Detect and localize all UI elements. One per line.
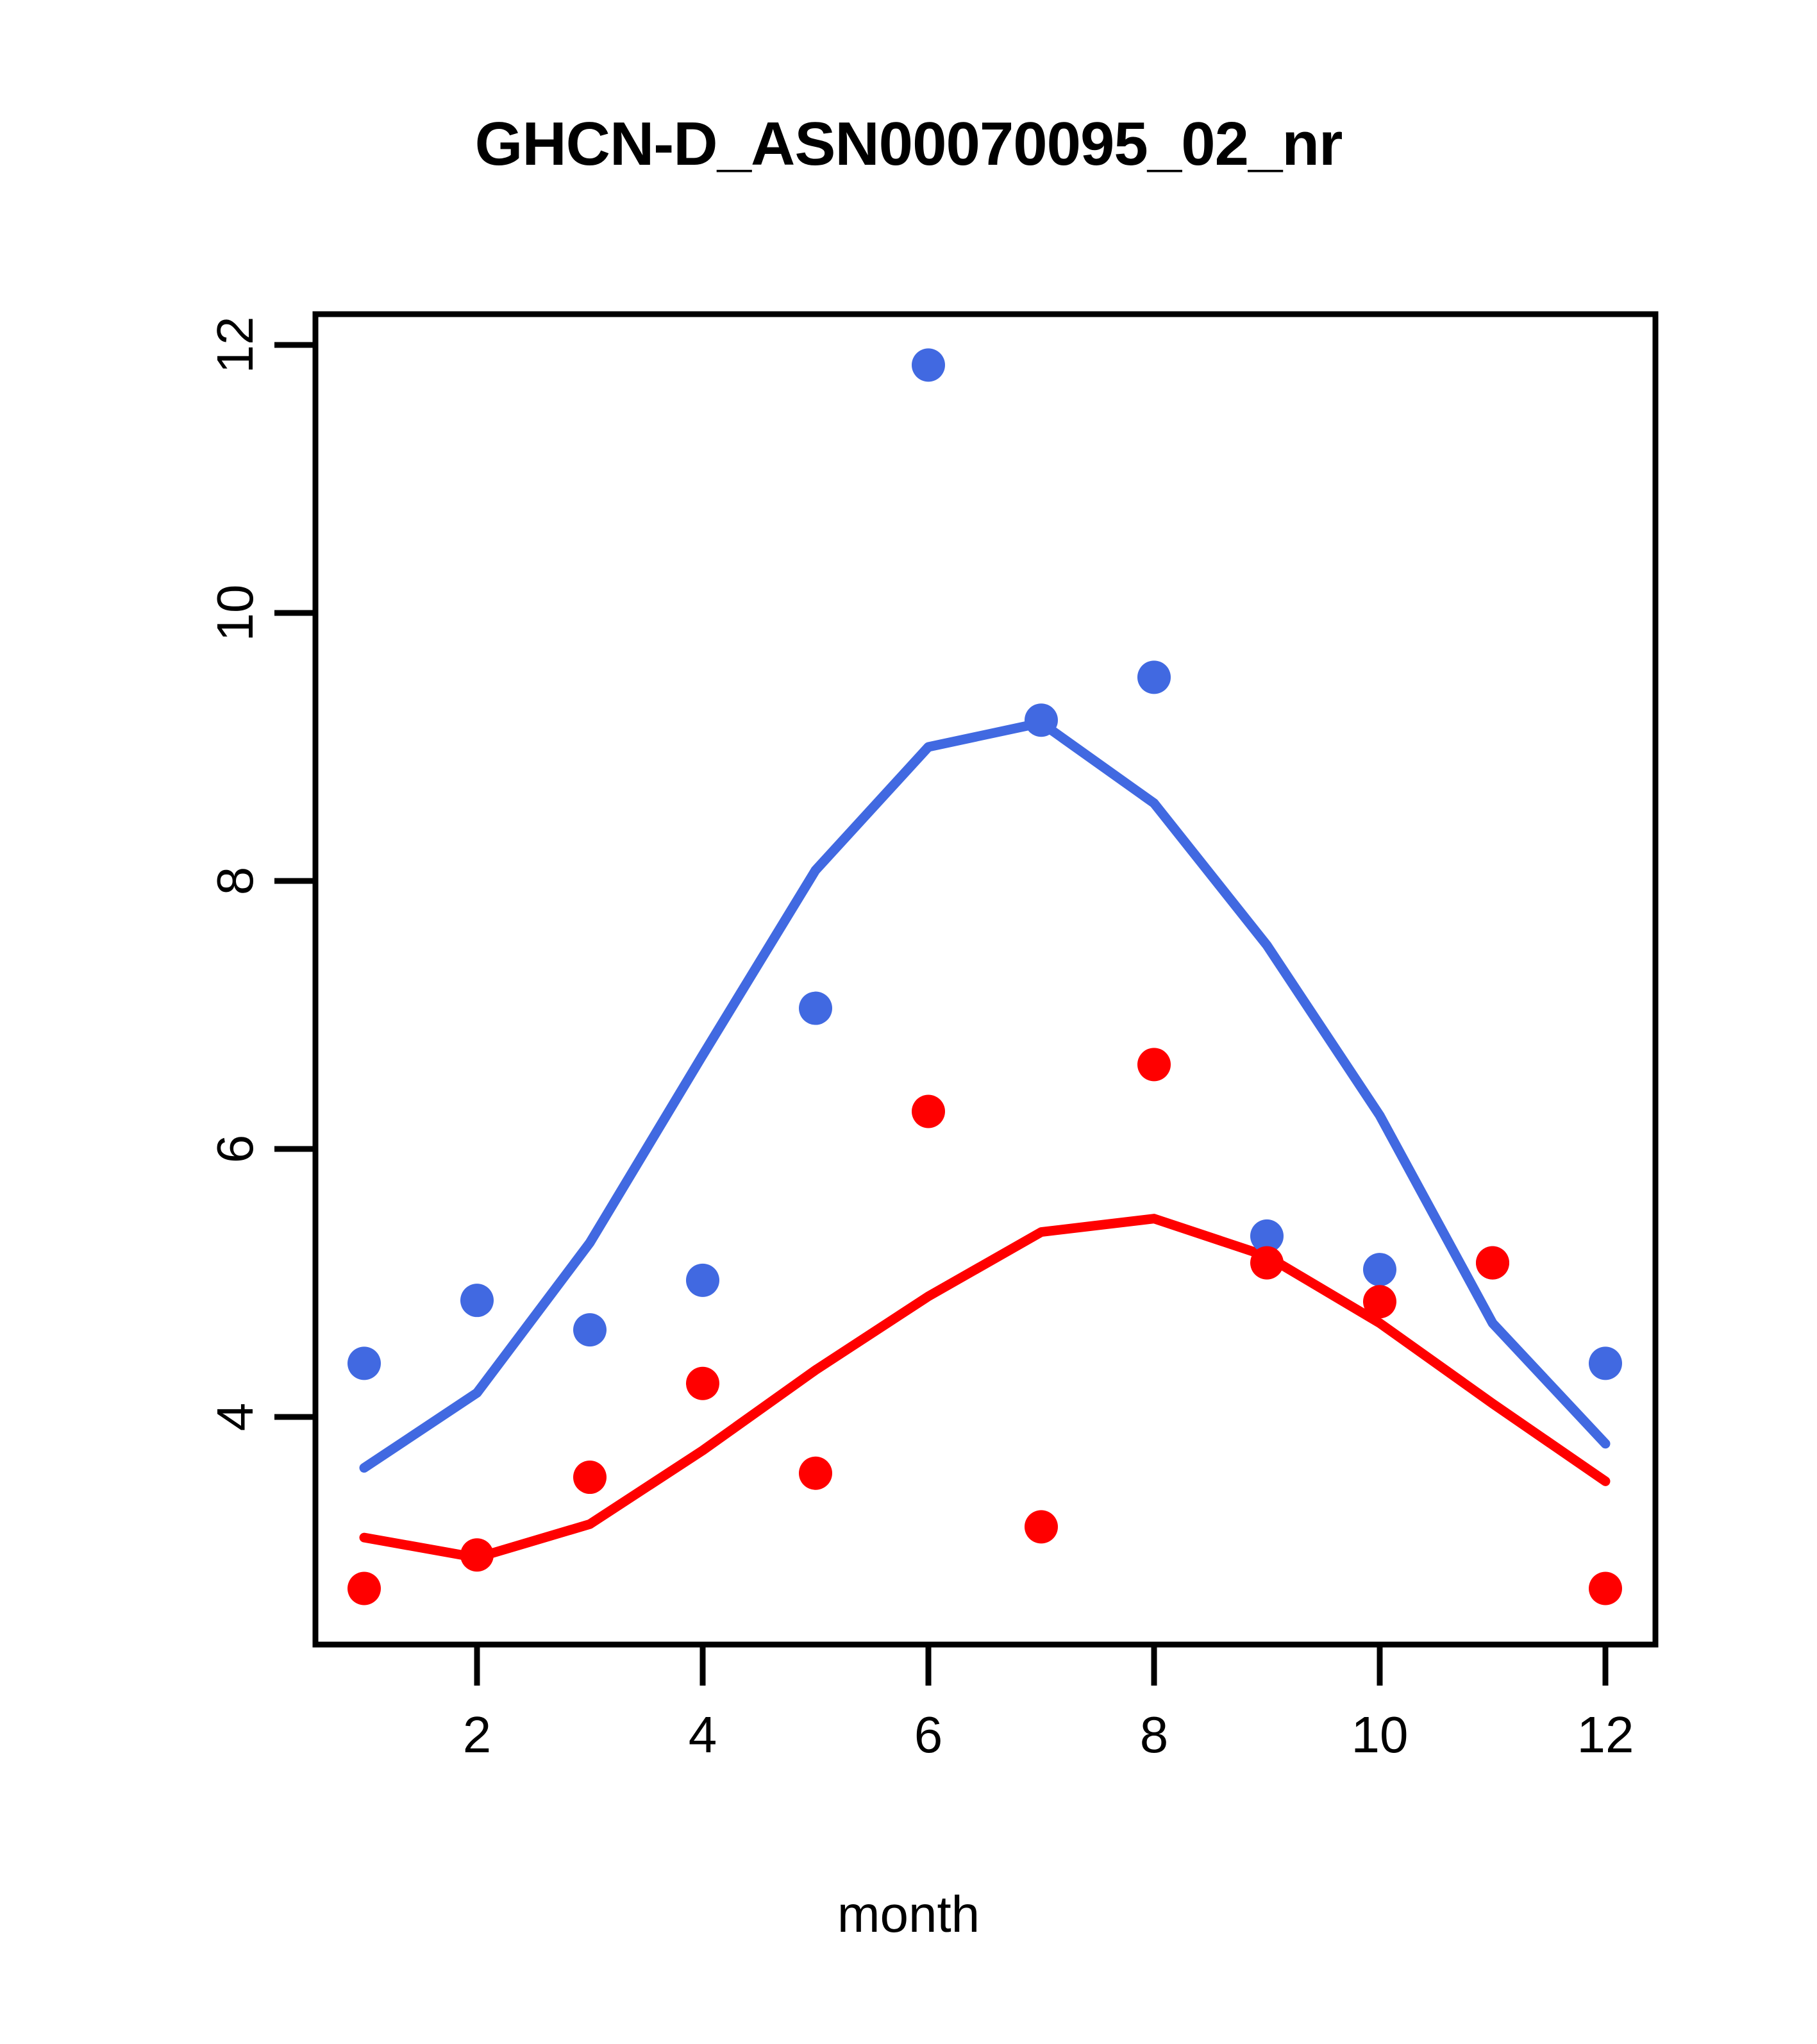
data-point — [912, 1094, 945, 1128]
figure-canvas: GHCN-D_ASN00070095_02_nr 24681012 468101… — [0, 0, 1817, 2044]
x-tick-label-10: 10 — [1352, 1705, 1409, 1764]
y-tick-label-4: 4 — [206, 1403, 265, 1432]
data-point — [1025, 1510, 1058, 1543]
data-point — [799, 1457, 832, 1490]
x-tick-label-6: 6 — [914, 1705, 943, 1764]
y-tick-label-12: 12 — [206, 317, 265, 374]
y-tick-label-10: 10 — [206, 585, 265, 642]
x-tick-label-2: 2 — [463, 1705, 492, 1764]
data-point — [799, 992, 832, 1025]
data-point — [686, 1264, 719, 1297]
plot-area — [0, 0, 1817, 2044]
data-point — [686, 1367, 719, 1400]
data-point — [1589, 1572, 1622, 1605]
data-point — [1363, 1253, 1396, 1286]
x-tick-label-4: 4 — [689, 1705, 717, 1764]
data-point — [1476, 1246, 1509, 1280]
data-point — [573, 1461, 607, 1494]
data-point — [573, 1313, 607, 1346]
data-point — [1137, 1048, 1171, 1081]
data-point — [1363, 1285, 1396, 1318]
data-point — [460, 1538, 494, 1571]
data-point — [912, 348, 945, 381]
y-tick-label-8: 8 — [206, 867, 265, 896]
x-tick-label-12: 12 — [1577, 1705, 1634, 1764]
data-point — [347, 1572, 381, 1605]
data-point — [1589, 1346, 1622, 1380]
data-point — [1137, 660, 1171, 694]
y-tick-label-6: 6 — [206, 1135, 265, 1164]
data-point — [347, 1346, 381, 1380]
data-point — [1025, 703, 1058, 737]
plot-frame — [315, 314, 1655, 1645]
x-tick-label-8: 8 — [1140, 1705, 1169, 1764]
axes-layer — [274, 314, 1655, 1686]
data-point — [1250, 1246, 1284, 1280]
x-axis-label: month — [0, 1885, 1817, 1944]
data-point — [460, 1284, 494, 1317]
series-line-red-line — [364, 1219, 1605, 1558]
series-layer — [347, 348, 1622, 1605]
